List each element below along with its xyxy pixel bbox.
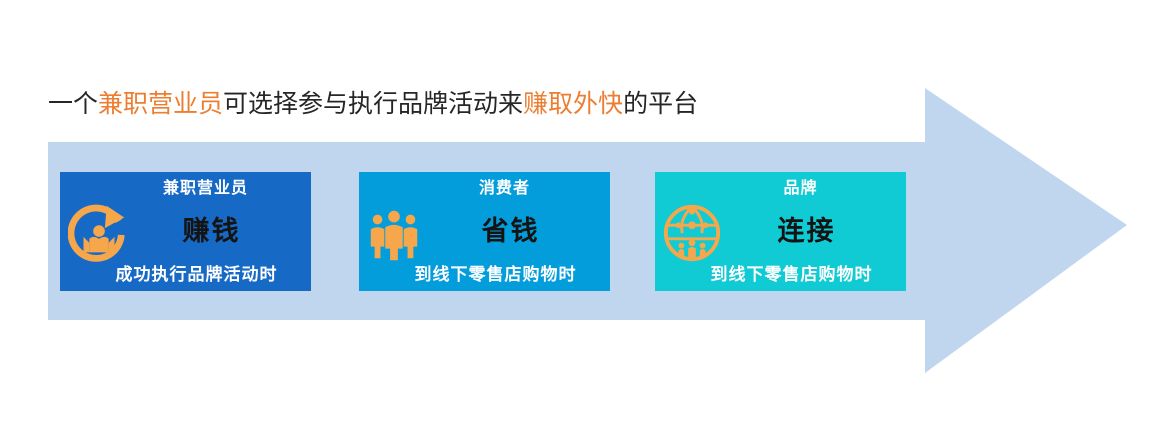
benefit-card-brand[interactable]: 品牌 连接 到线下零售店购物时 — [655, 172, 906, 291]
card-footer-label: 到线下零售店购物时 — [655, 263, 906, 287]
card-main-label: 省钱 — [359, 214, 610, 248]
card-footer-label: 成功执行品牌活动时 — [60, 263, 311, 287]
title-segment-0: 一个 — [48, 91, 98, 118]
slide-canvas: 一个兼职营业员可选择参与执行品牌活动来赚取外快的平台 兼职营业员 赚钱 成功执行… — [0, 0, 1150, 430]
card-header-label: 消费者 — [359, 178, 610, 200]
card-main-label: 连接 — [655, 214, 906, 248]
title-segment-4: 的平台 — [623, 91, 698, 118]
card-main-label: 赚钱 — [60, 214, 311, 248]
title-segment-3-highlight: 赚取外快 — [523, 91, 623, 118]
page-title: 一个兼职营业员可选择参与执行品牌活动来赚取外快的平台 — [48, 88, 698, 122]
title-segment-1-highlight: 兼职营业员 — [98, 91, 223, 118]
title-segment-2: 可选择参与执行品牌活动来 — [223, 91, 523, 118]
card-header-label: 兼职营业员 — [60, 178, 311, 200]
benefit-card-consumer[interactable]: 消费者 省钱 到线下零售店购物时 — [359, 172, 610, 291]
benefit-card-part-time-clerk[interactable]: 兼职营业员 赚钱 成功执行品牌活动时 — [60, 172, 311, 291]
card-header-label: 品牌 — [655, 178, 906, 200]
card-footer-label: 到线下零售店购物时 — [359, 263, 610, 287]
